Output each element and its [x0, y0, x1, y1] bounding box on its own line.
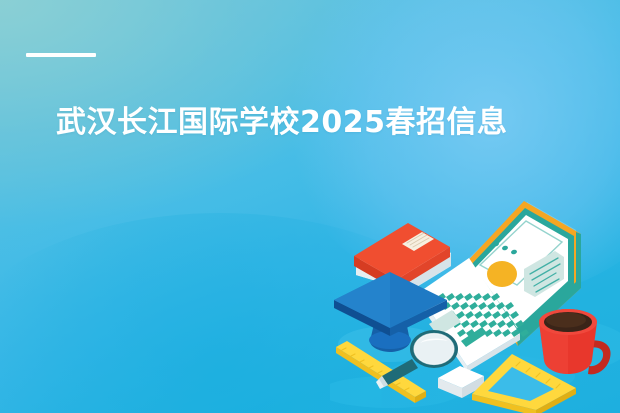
page-title: 武汉长江国际学校2025春招信息 — [56, 104, 508, 142]
promo-banner: 武汉长江国际学校2025春招信息 — [0, 0, 620, 413]
coffee-mug-icon — [539, 309, 611, 374]
screen-avatar — [487, 261, 517, 287]
accent-rule — [26, 53, 96, 57]
education-illustration — [330, 196, 620, 413]
